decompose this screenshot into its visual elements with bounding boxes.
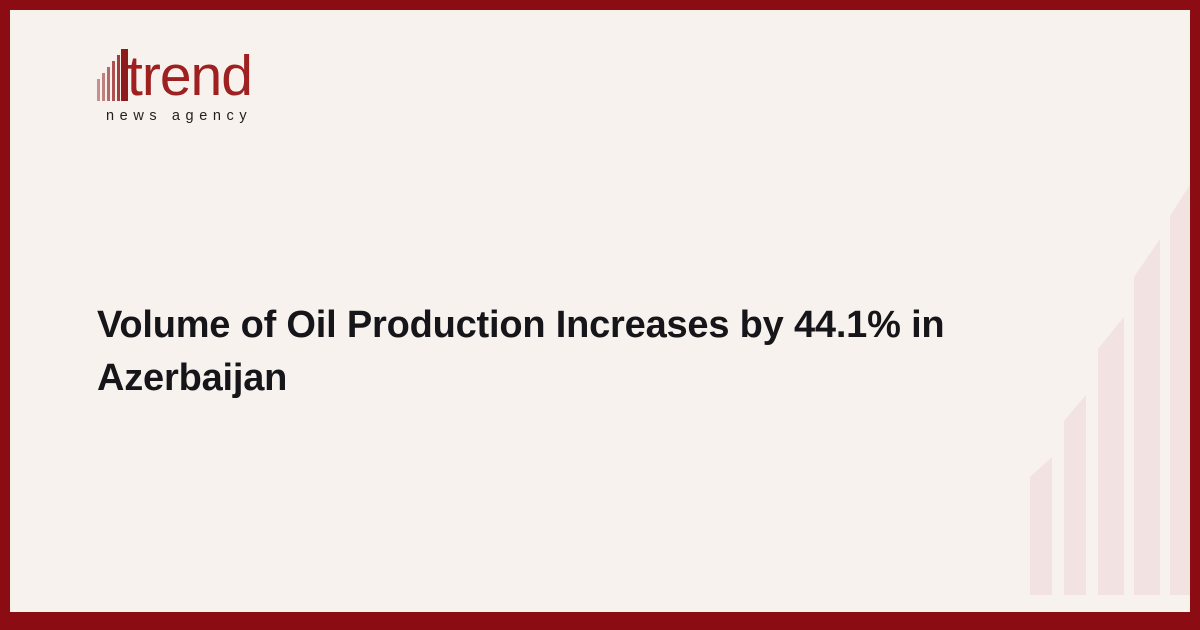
card-canvas: trend news agency Volume of Oil Producti… — [10, 10, 1190, 612]
logo-wordmark: trend — [127, 49, 252, 103]
watermark-bar-3 — [1098, 317, 1124, 595]
logo-tagline: news agency — [106, 108, 397, 124]
watermark-bar-4 — [1134, 239, 1160, 595]
brand-logo[interactable]: trend news agency — [97, 45, 397, 124]
bar-chart-watermark-icon — [1020, 182, 1190, 612]
page-title: Volume of Oil Production Increases by 44… — [97, 299, 967, 405]
watermark-bar-1 — [1030, 457, 1052, 595]
watermark-bar-5 — [1170, 172, 1190, 595]
share-card: trend news agency Volume of Oil Producti… — [0, 0, 1200, 630]
ascending-bars-icon — [97, 49, 120, 103]
logo-mark-row: trend — [97, 45, 397, 103]
watermark-bar-2 — [1064, 395, 1086, 595]
